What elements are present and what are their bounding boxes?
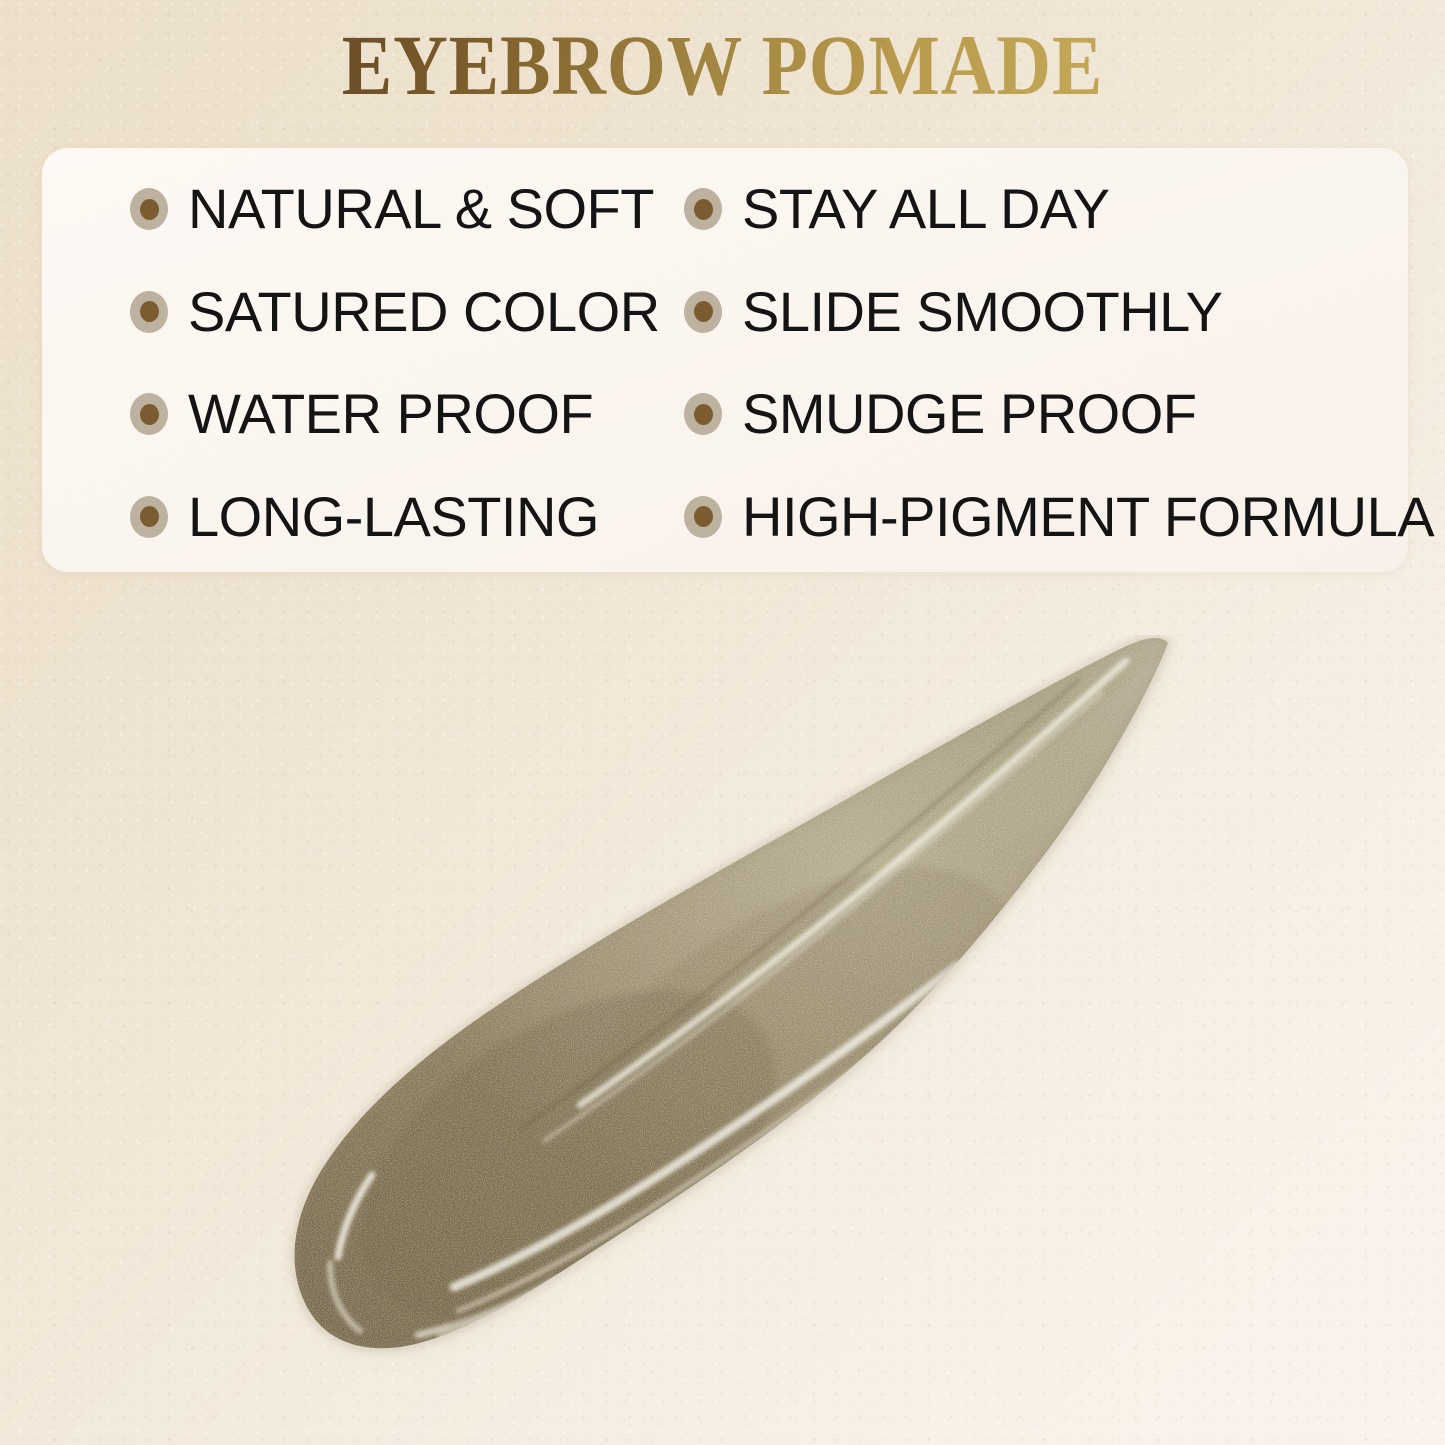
- feature-item-long-lasting: LONG-LASTING: [42, 489, 662, 545]
- feature-item-slide-smoothly: SLIDE SMOOTHLY: [662, 284, 1408, 340]
- page-title: EYEBROW POMADE: [87, 22, 1359, 108]
- bullet-dot-icon: [684, 291, 722, 333]
- bullet-dot-icon: [684, 188, 722, 230]
- feature-item-satured-color: SATURED COLOR: [42, 284, 662, 340]
- feature-label: NATURAL & SOFT: [188, 181, 654, 237]
- bullet-dot-icon: [130, 496, 168, 538]
- feature-label: SLIDE SMOOTHLY: [742, 284, 1223, 340]
- bullet-dot-icon: [130, 393, 168, 435]
- bullet-dot-icon: [130, 291, 168, 333]
- pomade-smear-graphic: [268, 635, 1208, 1395]
- bullet-dot-icon: [684, 393, 722, 435]
- feature-label: SATURED COLOR: [188, 284, 660, 340]
- feature-label: LONG-LASTING: [188, 489, 599, 545]
- feature-item-smudge-proof: SMUDGE PROOF: [662, 386, 1408, 442]
- feature-label: HIGH-PIGMENT FORMULA: [742, 489, 1434, 545]
- bullet-dot-icon: [130, 188, 168, 230]
- swatch-body: [268, 635, 1208, 1395]
- product-marketing-image: EYEBROW POMADE NATURAL & SOFT STAY ALL D…: [0, 0, 1445, 1445]
- feature-item-stay-all-day: STAY ALL DAY: [662, 181, 1408, 237]
- feature-item-water-proof: WATER PROOF: [42, 386, 662, 442]
- bullet-dot-icon: [684, 496, 722, 538]
- feature-grid: NATURAL & SOFT STAY ALL DAY SATURED COLO…: [42, 148, 1408, 572]
- product-swatch-area: [0, 600, 1445, 1445]
- feature-label: SMUDGE PROOF: [742, 386, 1196, 442]
- pomade-smear-swatch: [268, 635, 1208, 1395]
- feature-item-natural-soft: NATURAL & SOFT: [42, 181, 662, 237]
- feature-list-card: NATURAL & SOFT STAY ALL DAY SATURED COLO…: [42, 148, 1408, 572]
- feature-label: WATER PROOF: [188, 386, 593, 442]
- feature-label: STAY ALL DAY: [742, 181, 1110, 237]
- feature-item-high-pigment-formula: HIGH-PIGMENT FORMULA: [662, 489, 1408, 545]
